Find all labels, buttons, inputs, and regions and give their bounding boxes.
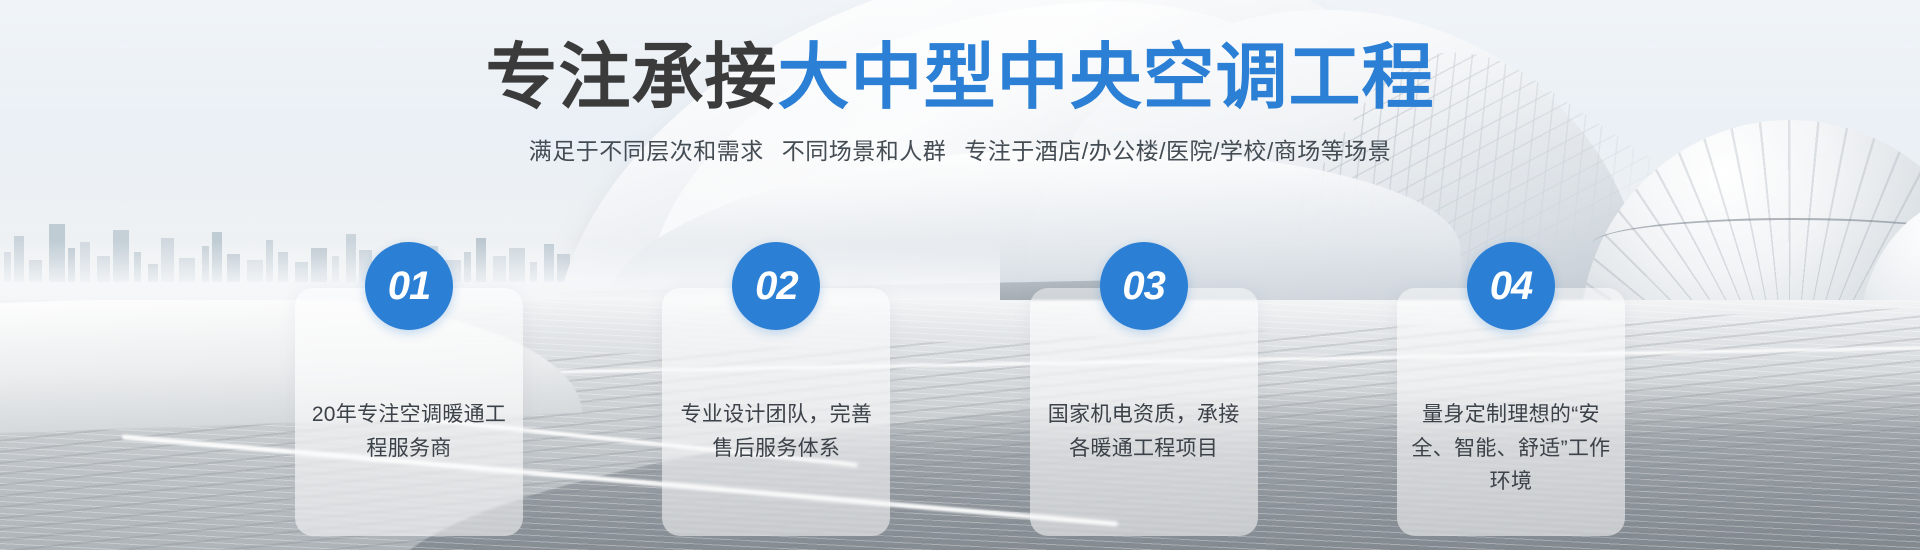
headline-dark-text: 专注承接 — [485, 38, 777, 118]
hero-banner: 专注承接大中型中央空调工程 满足于不同层次和需求不同场景和人群专注于酒店/办公楼… — [0, 0, 1920, 550]
card-description: 国家机电资质，承接各暖通工程项目 — [1042, 398, 1246, 465]
subhead-part-1: 满足于不同层次和需求 — [529, 138, 764, 164]
subhead-part-2: 不同场景和人群 — [782, 138, 947, 164]
feature-card[interactable]: 01 20年专注空调暖通工程服务商 — [295, 288, 523, 536]
feature-card[interactable]: 02 专业设计团队，完善售后服务体系 — [662, 288, 890, 536]
card-number-badge: 04 — [1467, 242, 1555, 330]
subhead-part-3: 专注于酒店/办公楼/医院/学校/商场等场景 — [964, 138, 1391, 164]
banner-headline: 专注承接大中型中央空调工程 — [0, 42, 1920, 114]
card-number-badge: 03 — [1100, 242, 1188, 330]
banner-subheadline: 满足于不同层次和需求不同场景和人群专注于酒店/办公楼/医院/学校/商场等场景 — [0, 132, 1920, 166]
feature-card[interactable]: 04 量身定制理想的“安全、智能、舒适”工作环境 — [1397, 288, 1625, 536]
card-description: 专业设计团队，完善售后服务体系 — [674, 398, 878, 465]
feature-card[interactable]: 03 国家机电资质，承接各暖通工程项目 — [1030, 288, 1258, 536]
headline-blue-text: 大中型中央空调工程 — [778, 38, 1435, 118]
card-number-badge: 01 — [365, 242, 453, 330]
card-description: 20年专注空调暖通工程服务商 — [307, 398, 511, 465]
card-description: 量身定制理想的“安全、智能、舒适”工作环境 — [1409, 398, 1613, 499]
feature-card-row: 01 20年专注空调暖通工程服务商 02 专业设计团队，完善售后服务体系 03 … — [295, 288, 1625, 548]
banner-content: 专注承接大中型中央空调工程 满足于不同层次和需求不同场景和人群专注于酒店/办公楼… — [0, 0, 1920, 550]
card-number-badge: 02 — [732, 242, 820, 330]
